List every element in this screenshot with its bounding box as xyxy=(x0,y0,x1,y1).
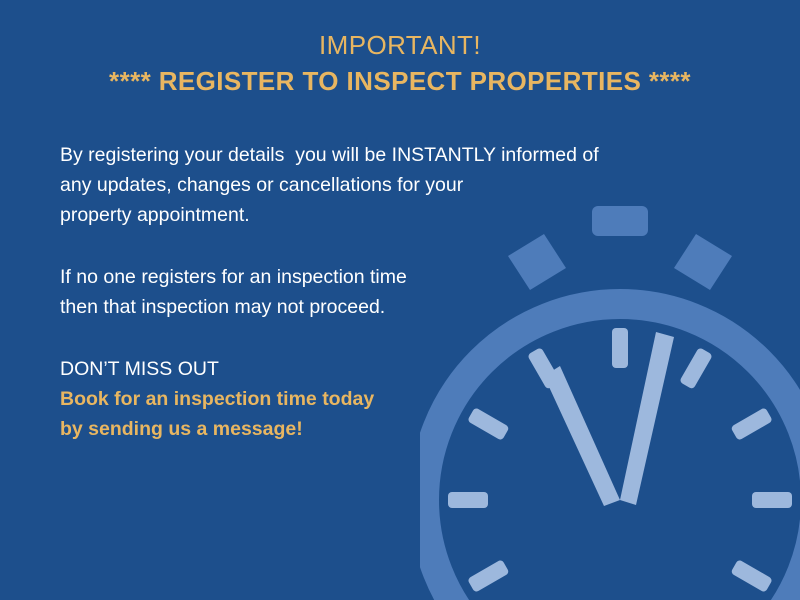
headline-line-2: **** REGISTER TO INSPECT PROPERTIES **** xyxy=(0,62,800,100)
paragraph2-line-1: If no one registers for an inspection ti… xyxy=(60,262,720,292)
headline-block: IMPORTANT! **** REGISTER TO INSPECT PROP… xyxy=(0,28,800,100)
cta-line-2: by sending us a message! xyxy=(60,414,720,444)
paragraph2-line-2: then that inspection may not proceed. xyxy=(60,292,720,322)
paragraph3-line-1: DON’T MISS OUT xyxy=(60,354,720,384)
paragraph-no-registration: If no one registers for an inspection ti… xyxy=(60,262,720,322)
paragraph1-line-1: By registering your details you will be … xyxy=(60,140,720,170)
paragraph1-line-3: property appointment. xyxy=(60,200,720,230)
headline-line-1: IMPORTANT! xyxy=(0,28,800,62)
paragraph-registering-details: By registering your details you will be … xyxy=(60,140,720,230)
body-block: By registering your details you will be … xyxy=(60,140,720,444)
paragraph1-line-2: any updates, changes or cancellations fo… xyxy=(60,170,720,200)
slide-canvas: IMPORTANT! **** REGISTER TO INSPECT PROP… xyxy=(0,0,800,600)
call-to-action-block: Book for an inspection time today by sen… xyxy=(60,384,720,444)
cta-line-1: Book for an inspection time today xyxy=(60,384,720,414)
paragraph-dont-miss-out: DON’T MISS OUT xyxy=(60,354,720,384)
